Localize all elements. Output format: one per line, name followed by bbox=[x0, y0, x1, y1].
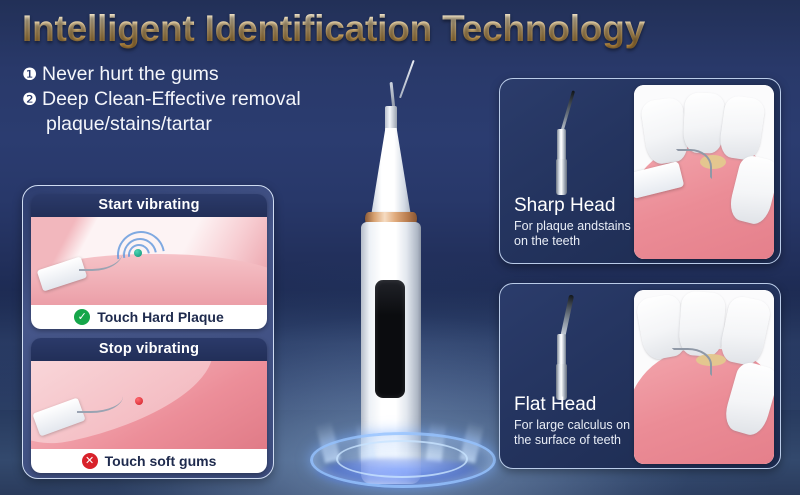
flat-head-usage-photo bbox=[634, 290, 774, 464]
flat-scaler-tip-icon bbox=[546, 294, 580, 400]
tip-shaft bbox=[557, 129, 566, 161]
panel-subtitle-line1: For large calculus on bbox=[514, 418, 630, 433]
tip-hook bbox=[560, 90, 575, 133]
tip-hook bbox=[560, 294, 574, 338]
bullet-number-2: ❷ bbox=[22, 87, 42, 112]
status-label: Touch soft gums bbox=[105, 453, 217, 469]
status-label: Touch Hard Plaque bbox=[97, 309, 224, 325]
panel-subtitle: For plaque andstains on the teeth bbox=[514, 219, 631, 249]
soft-gum-marker bbox=[135, 397, 143, 405]
panel-title: Sharp Head bbox=[514, 195, 615, 217]
device-upper-body bbox=[371, 128, 411, 216]
feature-bullet-list: ❶ Never hurt the gums ❷ Deep Clean-Effec… bbox=[22, 62, 382, 137]
panel-subtitle-line2: the surface of teeth bbox=[514, 433, 630, 448]
sharp-head-usage-photo bbox=[634, 85, 774, 259]
list-item: ❶ Never hurt the gums bbox=[22, 62, 382, 87]
panel-title: Flat Head bbox=[514, 394, 596, 416]
vibration-states-card: Start vibrating ✓ Touch Hard Plaque Stop… bbox=[22, 185, 274, 479]
bullet-number-1: ❶ bbox=[22, 62, 42, 87]
device-display-panel: Start to stop Strong Standard Gentle Sof… bbox=[375, 280, 405, 398]
bullet-text-2: Deep Clean-Effective removal bbox=[42, 87, 382, 112]
touch-soft-gums-status: ✕ Touch soft gums bbox=[31, 449, 267, 473]
panel-subtitle: For large calculus on the surface of tee… bbox=[514, 418, 630, 448]
scaler-tip-wire bbox=[399, 60, 415, 98]
tip-shaft bbox=[557, 334, 566, 366]
stop-vibrating-panel: Stop vibrating ✕ Touch soft gums bbox=[31, 338, 267, 473]
touch-hard-plaque-status: ✓ Touch Hard Plaque bbox=[31, 305, 267, 329]
hard-plaque-illustration bbox=[31, 217, 267, 305]
tooth bbox=[683, 92, 725, 153]
panel-subtitle-line1: For plaque andstains bbox=[514, 219, 631, 234]
stop-vibrating-header: Stop vibrating bbox=[31, 338, 267, 361]
tip-base bbox=[556, 159, 567, 195]
panel-subtitle-line2: on the teeth bbox=[514, 234, 631, 249]
page-title: Intelligent Identification Technology bbox=[22, 8, 645, 50]
flat-head-panel: Flat Head For large calculus on the surf… bbox=[499, 283, 781, 469]
bullet-continuation-text: plaque/stains/tartar bbox=[46, 112, 382, 137]
pedestal-inner-ring bbox=[336, 440, 468, 478]
product-feature-banner: Intelligent Identification Technology ❶ … bbox=[0, 0, 800, 495]
soft-gums-illustration bbox=[31, 361, 267, 449]
start-vibrating-panel: Start vibrating ✓ Touch Hard Plaque bbox=[31, 194, 267, 329]
start-vibrating-header: Start vibrating bbox=[31, 194, 267, 217]
hard-plaque-marker bbox=[134, 249, 142, 257]
bullet-text-1: Never hurt the gums bbox=[42, 62, 382, 87]
ultrasonic-scaler-device: Start to stop Strong Standard Gentle Sof… bbox=[347, 58, 453, 448]
list-item: ❷ Deep Clean-Effective removal bbox=[22, 87, 382, 112]
check-circle-icon: ✓ bbox=[74, 309, 90, 325]
x-circle-icon: ✕ bbox=[82, 453, 98, 469]
sharp-head-panel: Sharp Head For plaque andstains on the t… bbox=[499, 78, 781, 264]
sharp-scaler-tip-icon bbox=[546, 89, 580, 195]
glowing-pedestal bbox=[310, 418, 490, 490]
